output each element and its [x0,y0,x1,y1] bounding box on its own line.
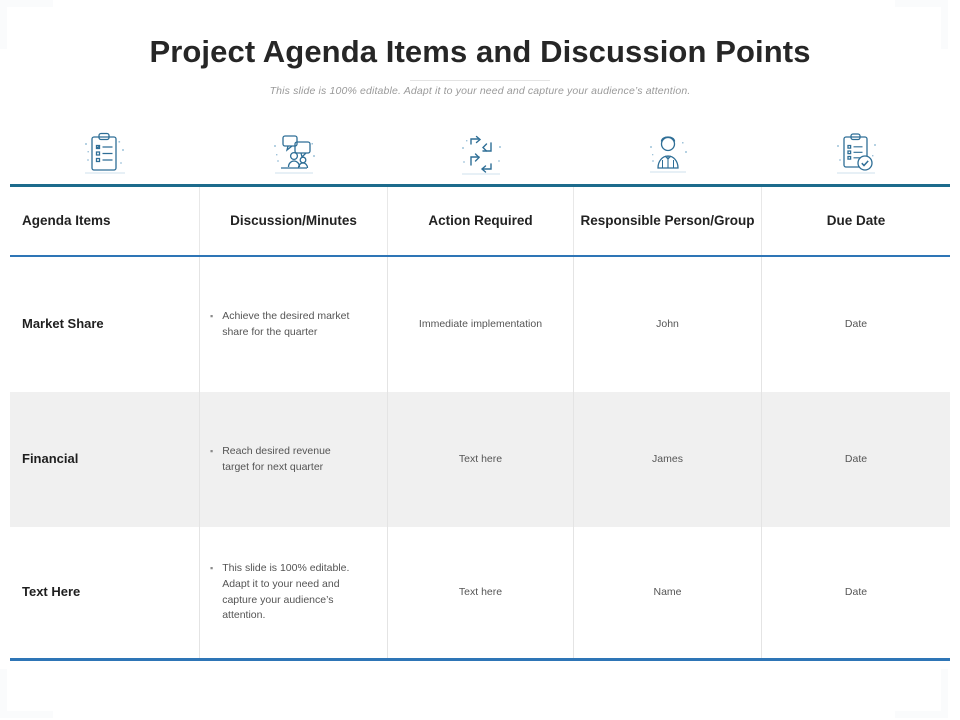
column-header-discussion-minutes: Discussion/Minutes [200,187,388,255]
title-divider [410,80,550,81]
bullet-icon: ▪ [210,561,213,575]
person-avatar-icon [642,130,694,178]
column-header-label: Action Required [428,213,532,230]
column-header-due-date: Due Date [762,187,950,255]
agenda-table: Agenda Items Discussion/Minutes Action R… [10,184,950,661]
cell-due-date: Date [762,392,950,527]
table-header-row: Agenda Items Discussion/Minutes Action R… [10,187,950,257]
cell-discussion-text: Achieve the desired market share for the… [222,309,352,341]
icon-strip [10,128,950,180]
cell-action-required: Immediate implementation [388,257,574,392]
clipboard-checklist-icon [79,130,131,178]
cell-responsible: James [574,392,762,527]
cell-discussion: ▪ Reach desired revenue target for next … [200,392,388,527]
icon-cell-responsible-person [574,128,762,180]
cell-discussion: ▪ Achieve the desired market share for t… [200,257,388,392]
cell-discussion: ▪ This slide is 100% editable. Adapt it … [200,527,388,658]
table-row: Financial ▪ Reach desired revenue target… [10,392,950,527]
column-header-responsible-person: Responsible Person/Group [574,187,762,255]
column-header-agenda-items: Agenda Items [10,187,200,255]
cell-agenda-item: Financial [10,392,200,527]
cell-due-date: Date [762,257,950,392]
discussion-people-icon [268,130,320,178]
column-header-label: Responsible Person/Group [580,213,754,230]
cell-discussion-text: This slide is 100% editable. Adapt it to… [222,561,352,624]
column-header-action-required: Action Required [388,187,574,255]
corner-decoration-bottom-left [0,669,53,718]
icon-cell-agenda-items [10,128,200,180]
bullet-icon: ▪ [210,309,213,323]
cell-due-date: Date [762,527,950,658]
page-title: Project Agenda Items and Discussion Poin… [0,34,960,70]
bullet-icon: ▪ [210,444,213,458]
cell-discussion-text: Reach desired revenue target for next qu… [222,444,352,476]
table-row: Text Here ▪ This slide is 100% editable.… [10,527,950,658]
slide-header: Project Agenda Items and Discussion Poin… [0,0,960,97]
column-header-label: Discussion/Minutes [230,213,357,230]
cell-agenda-item: Text Here [10,527,200,658]
slide-subtitle: This slide is 100% editable. Adapt it to… [0,85,960,97]
icon-cell-discussion-minutes [200,128,388,180]
corner-decoration-bottom-right [895,669,948,718]
column-header-label: Agenda Items [22,213,111,230]
cycle-arrows-icon [455,130,507,178]
cell-agenda-item: Market Share [10,257,200,392]
icon-cell-action-required [388,128,574,180]
table-row: Market Share ▪ Achieve the desired marke… [10,257,950,392]
cell-responsible: Name [574,527,762,658]
column-header-label: Due Date [827,213,886,230]
cell-action-required: Text here [388,392,574,527]
clipboard-approved-icon [830,130,882,178]
cell-responsible: John [574,257,762,392]
cell-action-required: Text here [388,527,574,658]
icon-cell-due-date [762,128,950,180]
